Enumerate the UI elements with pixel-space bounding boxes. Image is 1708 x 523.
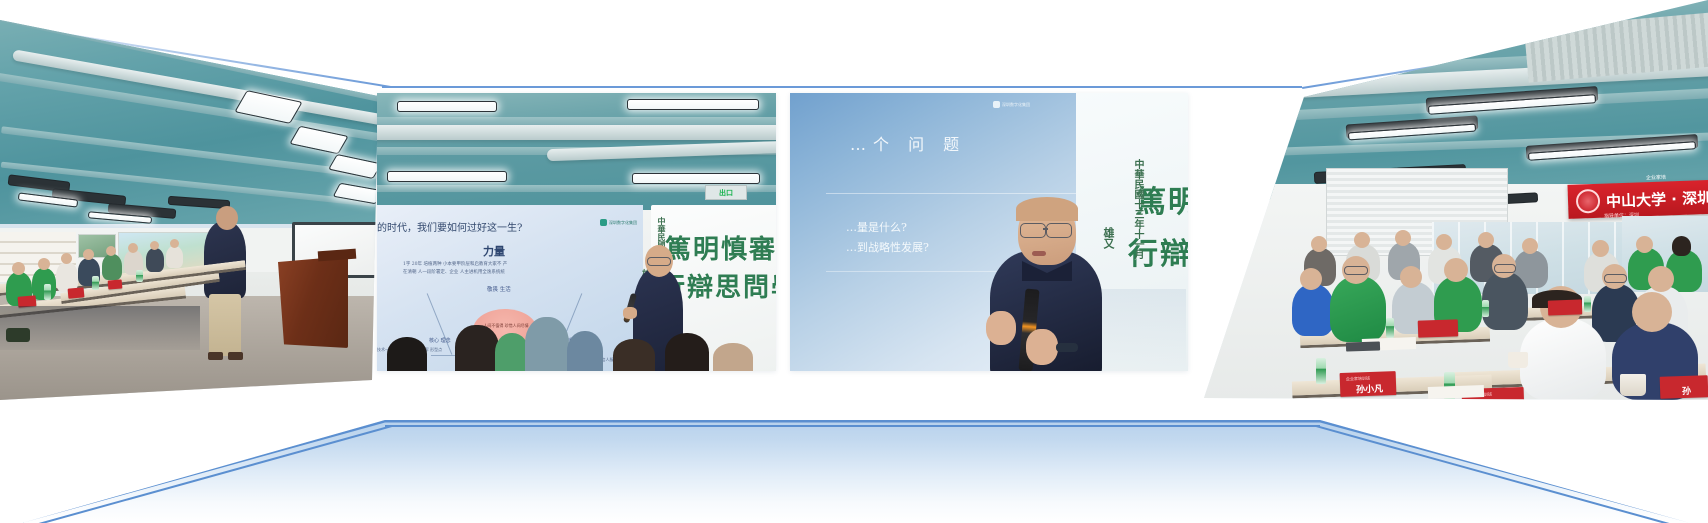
slide-logo: 深圳数字化集团 [600,219,637,226]
exit-sign: 出口 [705,185,747,200]
slide-bullet-2: …到战略性发展? [846,239,929,255]
slide-bullet-1: …量是什么? [846,219,907,235]
nameplate [1418,319,1459,337]
calligraphy-vertical-right-b: 中華民國十三年十一月 [1130,159,1145,239]
slide-logo-2: 深圳数字化集团 [993,101,1030,108]
photo-presentation-slide-lecture[interactable]: 出口 …的时代，我们要如何过好这一生? 深圳数字化集团 力量 1字 20年 培植… [377,93,776,371]
eyeglasses [1020,223,1046,238]
nameplate-label: 孙小凡 [1356,382,1383,396]
photo-center-1-content: 出口 …的时代，我们要如何过好这一生? 深圳数字化集团 力量 1字 20年 培植… [377,93,776,371]
nameplate-label: 周桂平 [1480,398,1507,400]
slide-headline-2: …个 问 题 [850,131,966,155]
slide-left-node: 核心 理念 [429,337,451,344]
perspective-rail-center [382,86,1302,88]
banner-subtext-top: 企业家培 [1646,174,1666,182]
photo-audience-shot[interactable]: 中山大学 · 深圳 企业家培 指导单位：深圳 [1196,0,1708,400]
photo-center-2-content: 深圳数字化集团 …个 问 题 …量是什么? …到战略性发展? 篤明 行辯 中華民… [790,93,1188,371]
slide-section-label: 力量 [483,243,505,259]
banner-title: 中山大学 · 深圳 [1606,186,1708,211]
floor-rail-center [385,425,1320,427]
nameplate [68,287,85,298]
slide-headline: …的时代，我们要如何过好这一生? [377,219,522,234]
eyeglasses-right [1046,223,1072,238]
nameplate-label: 孙 [1682,384,1691,397]
calligraphy-vertical-left-b: 雄又 [1100,227,1116,259]
photo-left-content [0,0,378,400]
slide-body-text-2: 在清朝 人一段阶署定、企业 人主进机用全逸系统统 [403,269,505,275]
university-seal-icon [1576,189,1601,214]
slide-body-text-1: 1字 20年 培植两种 小本要甲阶层和启教育大家不 产 [403,261,507,267]
photo-right-content: 中山大学 · 深圳 企业家培 指导单位：深圳 [1196,0,1708,400]
photo-classroom-wide-shot[interactable] [0,0,378,400]
nameplate [108,279,123,289]
photo-speaker-closeup[interactable]: 深圳数字化集团 …个 问 题 …量是什么? …到战略性发展? 篤明 行辯 中華民… [790,93,1188,371]
stage-floor [0,398,1708,523]
slide-triangle-top: 敬畏 生活 [487,285,511,293]
photo-collage-banner: 出口 …的时代，我们要如何过好这一生? 深圳数字化集团 力量 1字 20年 培植… [0,0,1708,523]
nameplate [1548,299,1583,315]
calligraphy-line-1: 篤明慎審博 [665,229,776,266]
